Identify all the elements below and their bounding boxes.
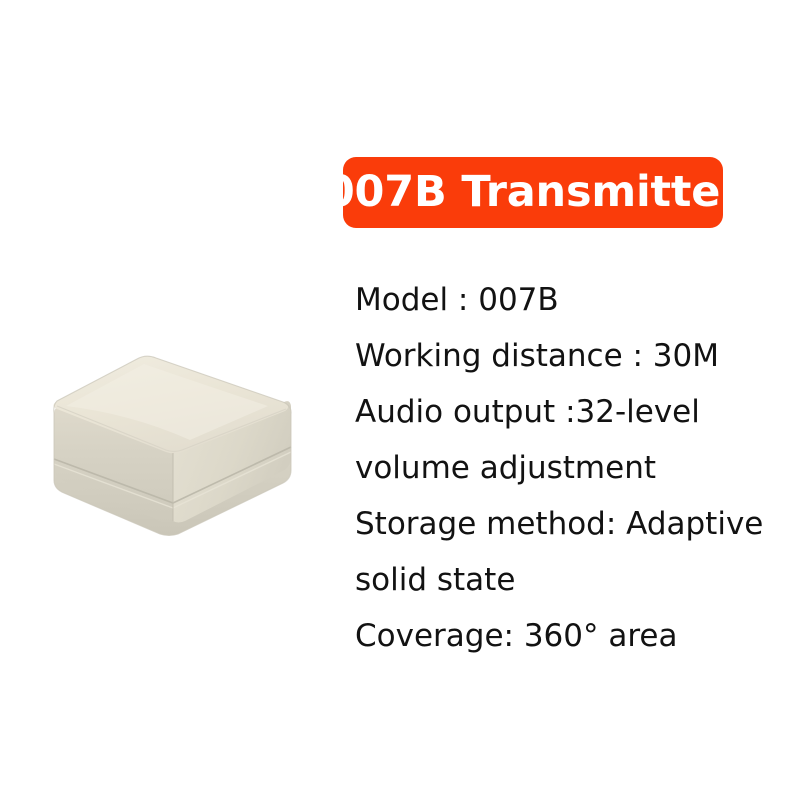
spec-line-audio-output: Audio output :32-level: [355, 384, 775, 440]
spec-line-storage-method-cont: solid state: [355, 552, 775, 608]
spec-line-coverage: Coverage: 360° area: [355, 608, 775, 664]
specification-list: Model : 007B Working distance : 30M Audi…: [355, 272, 775, 664]
spec-line-storage-method: Storage method: Adaptive: [355, 496, 775, 552]
product-title-text: 007B Transmitter: [325, 171, 741, 214]
spec-line-model: Model : 007B: [355, 272, 775, 328]
spec-line-working-distance: Working distance : 30M: [355, 328, 775, 384]
product-card: 007B Transmitter Model : 007B Working di…: [0, 0, 800, 800]
product-image: [40, 340, 310, 555]
product-enclosure-illustration: [40, 340, 310, 555]
product-title-badge: 007B Transmitter: [343, 157, 723, 228]
spec-line-audio-output-cont: volume adjustment: [355, 440, 775, 496]
